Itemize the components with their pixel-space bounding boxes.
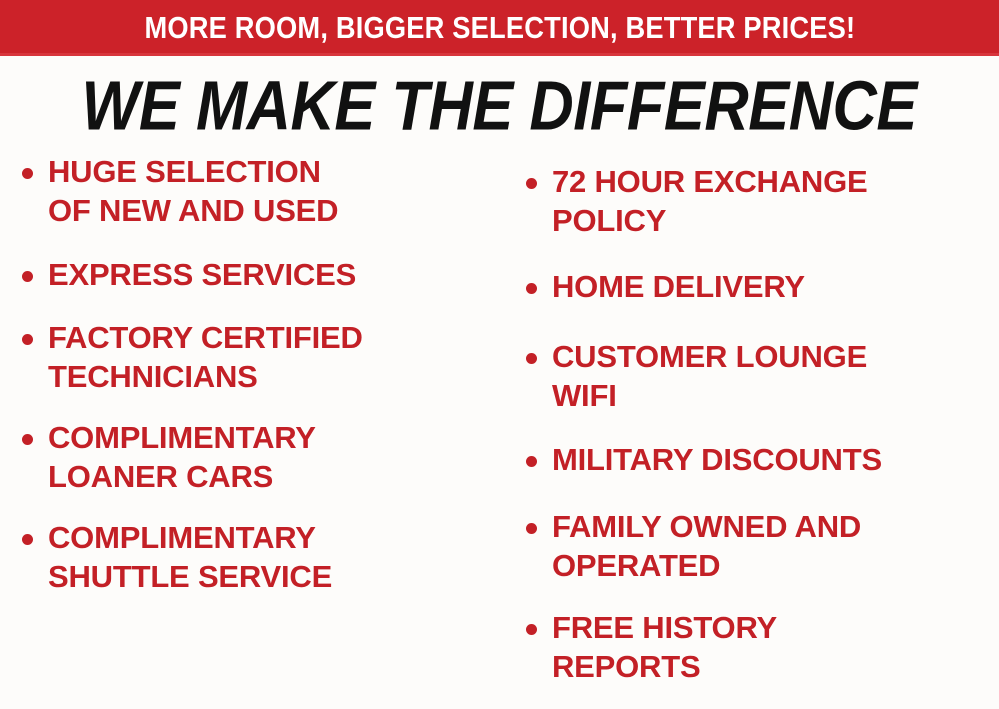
list-item-label: CUSTOMER LOUNGE WIFI <box>552 337 999 415</box>
page-title: WE MAKE THE DIFFERENCE <box>0 66 999 144</box>
dot-bullet-icon <box>526 178 537 189</box>
list-item: HOME DELIVERY <box>518 267 999 306</box>
dot-bullet-icon <box>22 271 33 282</box>
top-promo-banner-text-value: MORE ROOM, BIGGER SELECTION, BETTER PRIC… <box>144 12 855 43</box>
list-item-label: EXPRESS SERVICES <box>48 255 506 294</box>
list-item-label: HOME DELIVERY <box>552 267 999 306</box>
dot-bullet-icon <box>526 456 537 467</box>
list-item-label: MILITARY DISCOUNTS <box>552 440 999 479</box>
top-promo-banner-inner: MORE ROOM, BIGGER SELECTION, BETTER PRIC… <box>0 0 999 56</box>
list-item: 72 HOUR EXCHANGE POLICY <box>518 162 999 240</box>
promo-banner-page: MORE ROOM, BIGGER SELECTION, BETTER PRIC… <box>0 0 999 692</box>
benefits-column-right: 72 HOUR EXCHANGE POLICY HOME DELIVERY CU… <box>518 152 999 709</box>
list-item: COMPLIMENTARY SHUTTLE SERVICE <box>14 518 506 596</box>
list-item: FACTORY CERTIFIED TECHNICIANS <box>14 318 506 396</box>
list-item-label: COMPLIMENTARY SHUTTLE SERVICE <box>48 518 506 596</box>
dot-bullet-icon <box>22 334 33 345</box>
list-item-label: HUGE SELECTION OF NEW AND USED <box>48 152 506 230</box>
list-item: CUSTOMER LOUNGE WIFI <box>518 337 999 415</box>
banner-bottom-edge <box>0 53 999 56</box>
list-item-label: 72 HOUR EXCHANGE POLICY <box>552 162 999 240</box>
list-item-label: COMPLIMENTARY LOANER CARS <box>48 418 506 496</box>
list-item: COMPLIMENTARY LOANER CARS <box>14 418 506 496</box>
list-item-label: FACTORY CERTIFIED TECHNICIANS <box>48 318 506 396</box>
dot-bullet-icon <box>22 534 33 545</box>
list-item: MILITARY DISCOUNTS <box>518 440 999 479</box>
list-item: FREE HISTORY REPORTS <box>518 608 999 686</box>
top-promo-banner: MORE ROOM, BIGGER SELECTION, BETTER PRIC… <box>0 0 999 56</box>
benefits-columns: HUGE SELECTION OF NEW AND USED EXPRESS S… <box>0 152 999 692</box>
dot-bullet-icon <box>526 523 537 534</box>
list-item-label: FAMILY OWNED AND OPERATED <box>552 507 999 585</box>
dot-bullet-icon <box>22 434 33 445</box>
dot-bullet-icon <box>22 168 33 179</box>
list-item: FAMILY OWNED AND OPERATED <box>518 507 999 585</box>
benefits-column-left: HUGE SELECTION OF NEW AND USED EXPRESS S… <box>14 152 506 619</box>
list-item-label: FREE HISTORY REPORTS <box>552 608 999 686</box>
top-promo-banner-text: MORE ROOM, BIGGER SELECTION, BETTER PRIC… <box>0 12 999 43</box>
dot-bullet-icon <box>526 353 537 364</box>
list-item: EXPRESS SERVICES <box>14 255 506 294</box>
page-title-value: WE MAKE THE DIFFERENCE <box>82 64 917 147</box>
dot-bullet-icon <box>526 283 537 294</box>
dot-bullet-icon <box>526 624 537 635</box>
list-item: HUGE SELECTION OF NEW AND USED <box>14 152 506 230</box>
